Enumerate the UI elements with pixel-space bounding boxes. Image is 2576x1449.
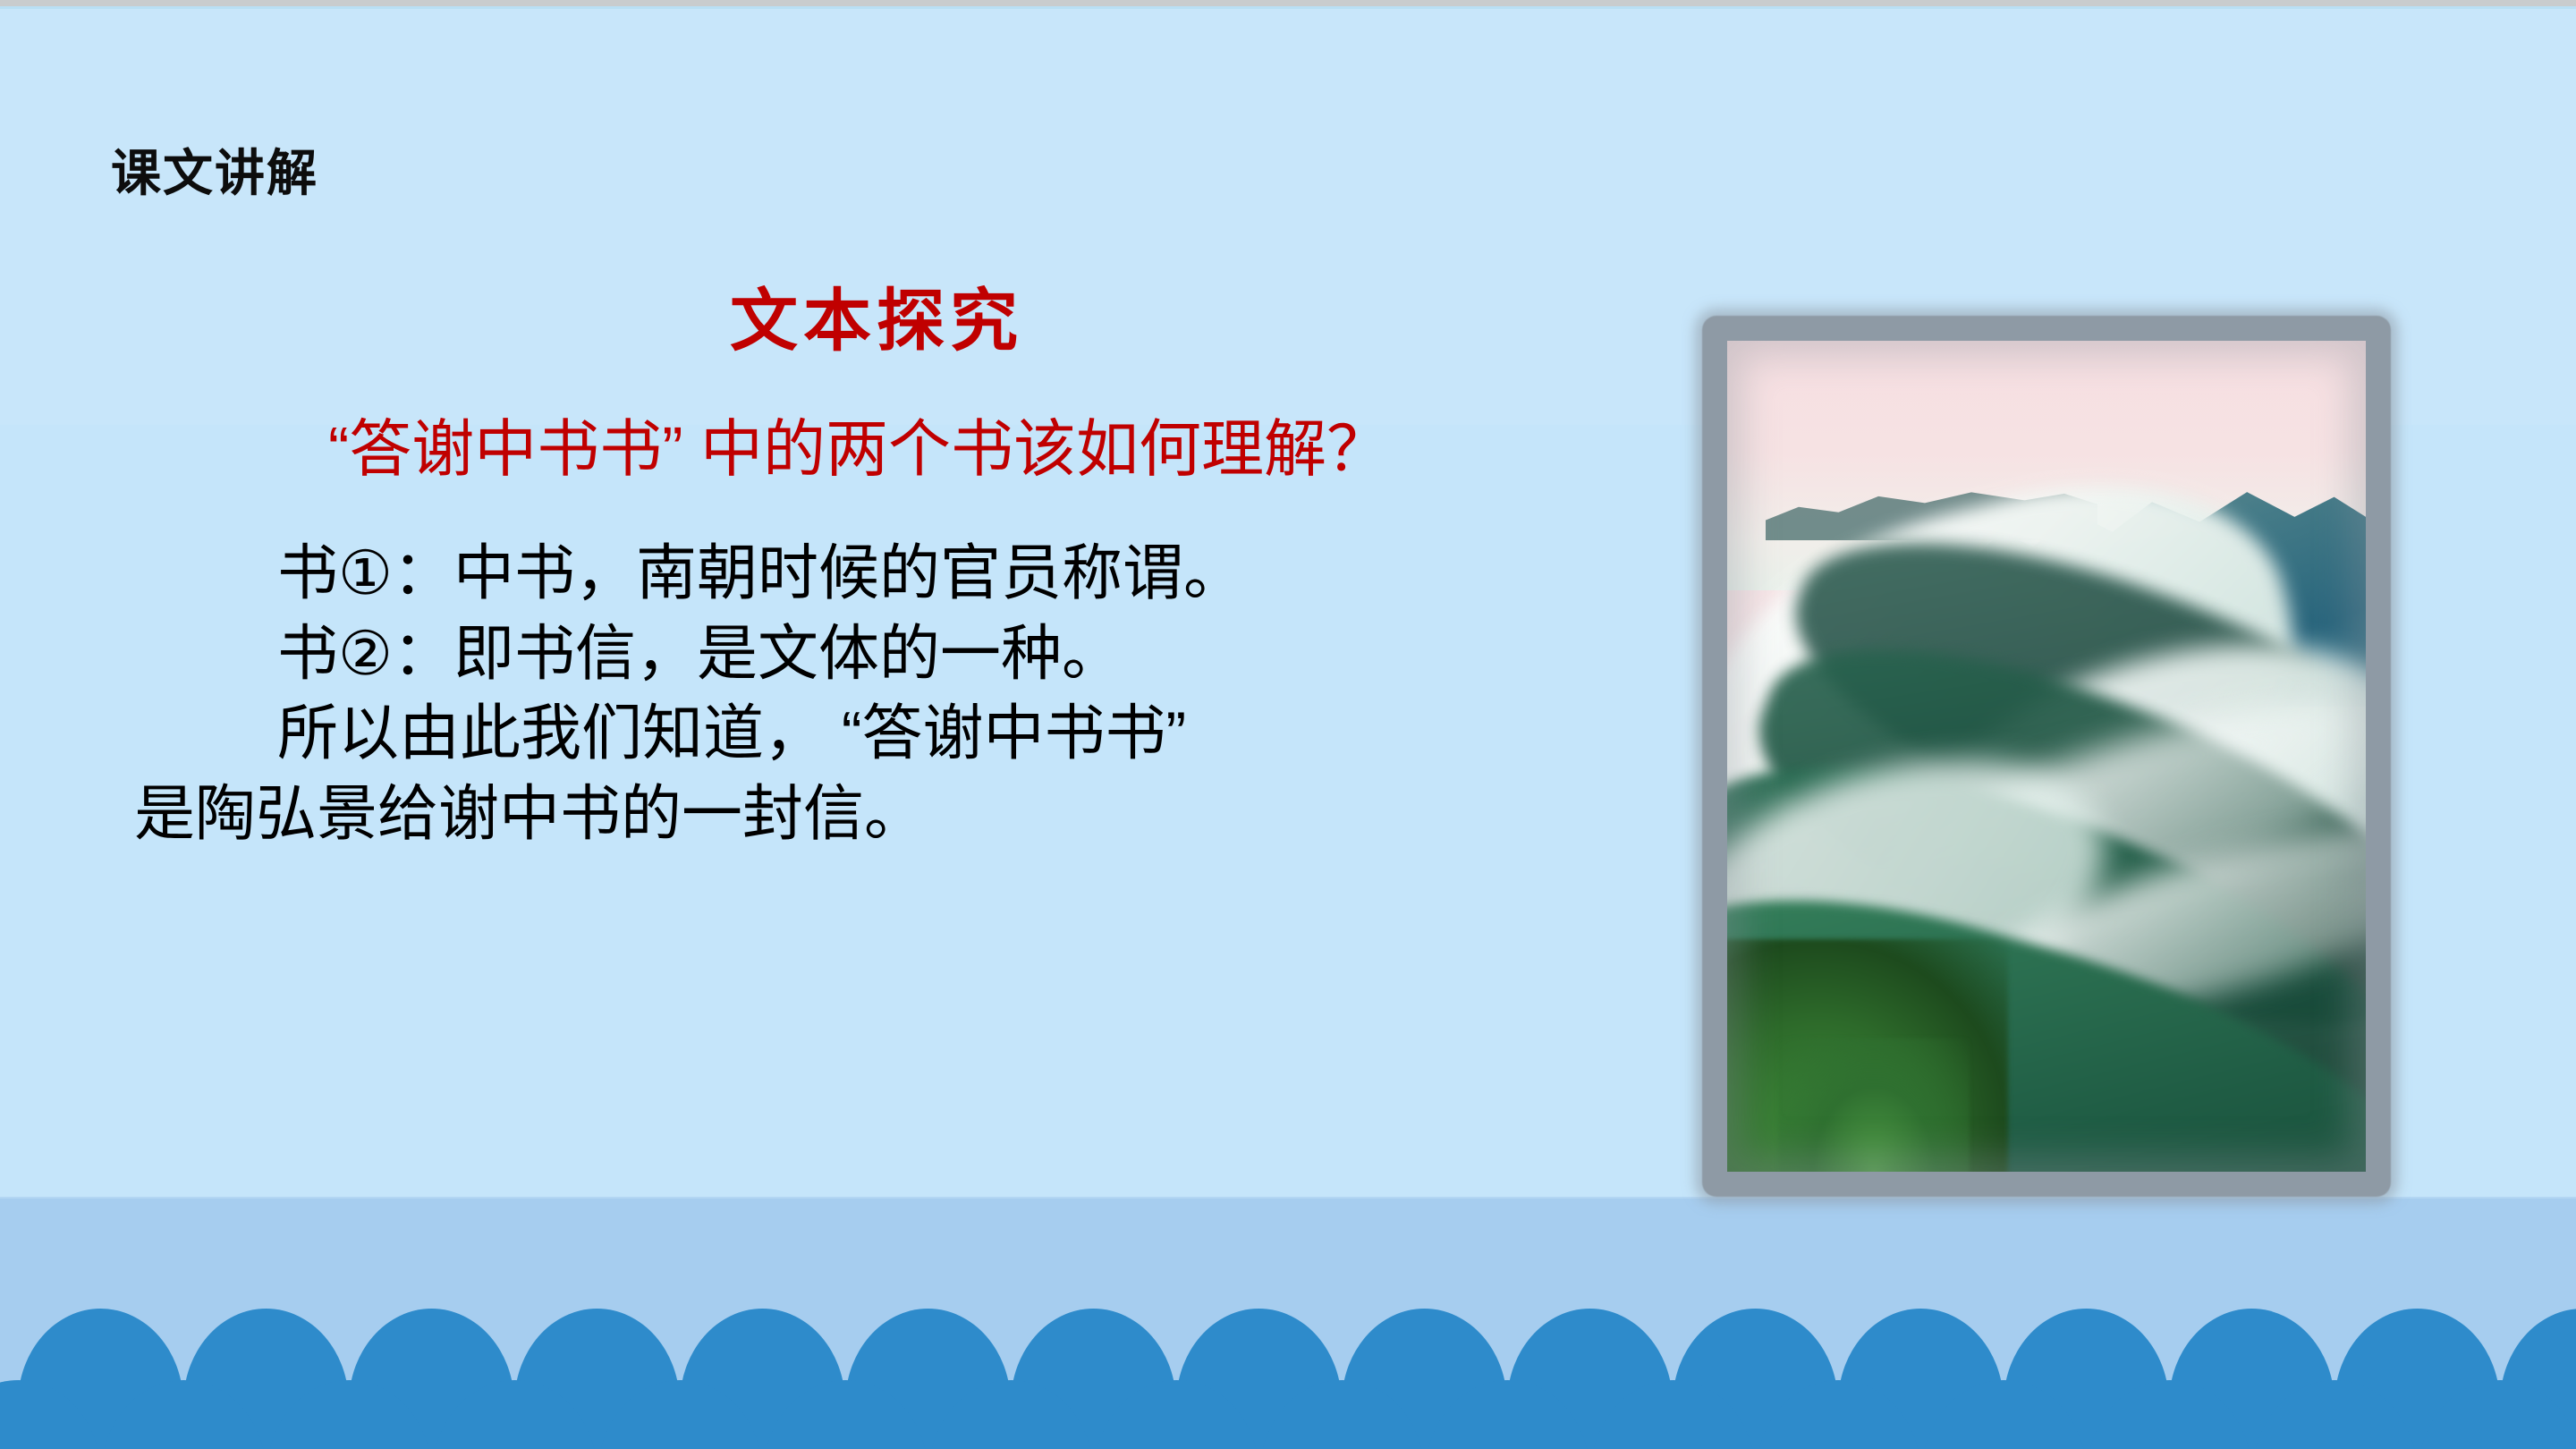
petal-shape (1094, 1380, 1259, 1449)
petal-shape (2252, 1380, 2418, 1449)
petal-shape (1590, 1380, 1756, 1449)
petal-row-front (0, 1380, 2576, 1449)
body-text-block: 书①：中书，南朝时候的官员称谓。 书②：即书信，是文体的一种。 所以由此我们知道… (0, 534, 1682, 855)
petal-shape (1921, 1380, 2087, 1449)
petal-shape (928, 1380, 1094, 1449)
footer-petal-decoration (0, 1301, 2576, 1449)
body-line-2: 书②：即书信，是文体的一种。 (0, 614, 1682, 695)
petal-shape (1425, 1380, 1590, 1449)
petal-shape (1756, 1380, 1921, 1449)
page-title: 课文讲解 (111, 148, 318, 199)
petal-shape (267, 1380, 432, 1449)
petal-shape (763, 1380, 928, 1449)
petal-shape (101, 1380, 267, 1449)
petal-shape (597, 1380, 763, 1449)
petal-shape (2087, 1380, 2252, 1449)
petal-shape (0, 1380, 101, 1449)
body-line-3: 所以由此我们知道， “答谢中书书” (0, 694, 1682, 775)
photo-vignette (1727, 341, 2366, 1172)
petal-shape (2418, 1380, 2576, 1449)
body-line-1: 书①：中书，南朝时候的官员称谓。 (0, 534, 1682, 614)
petal-shape (432, 1380, 597, 1449)
section-heading: 文本探究 (0, 286, 1682, 358)
top-gray-strip (0, 0, 2576, 6)
question-text: “答谢中书书” 中的两个书该如何理解？ (0, 415, 1682, 484)
mountain-cloud-photo (1727, 341, 2366, 1172)
content-column: 文本探究 “答谢中书书” 中的两个书该如何理解？ 书①：中书，南朝时候的官员称谓… (0, 286, 1682, 855)
body-line-4: 是陶弘景给谢中书的一封信。 (0, 775, 1682, 855)
petal-shape (1259, 1380, 1425, 1449)
slide-canvas: 课文讲解 文本探究 “答谢中书书” 中的两个书该如何理解？ 书①：中书，南朝时候… (0, 0, 2576, 1449)
